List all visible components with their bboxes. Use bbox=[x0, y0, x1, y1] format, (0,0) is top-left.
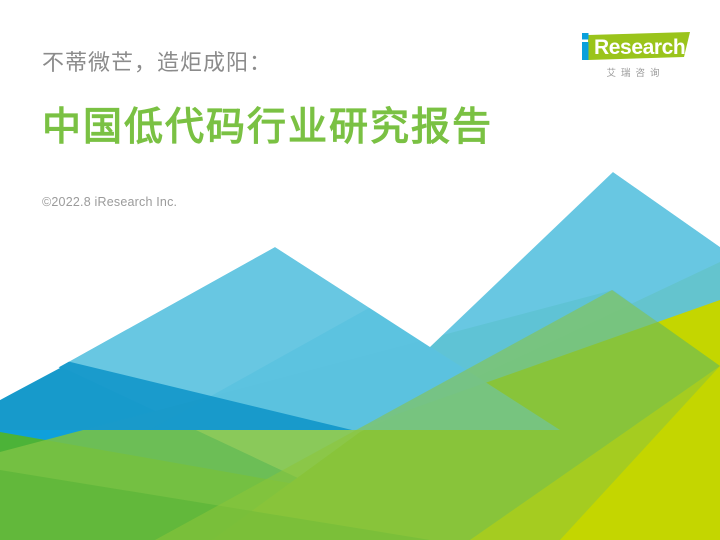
logo-chinese-name: 艾瑞咨询 bbox=[574, 67, 692, 81]
logo-wordmark: Research bbox=[594, 36, 685, 59]
logo-i-stem-icon bbox=[582, 42, 589, 60]
logo-graphic: Research bbox=[574, 30, 692, 64]
logo-i-dot-icon bbox=[582, 33, 589, 40]
cover-subtitle: 不蒂微芒，造炬成阳： bbox=[42, 48, 582, 78]
report-cover-page: 不蒂微芒，造炬成阳： 中国低代码行业研究报告 ©2022.8 iResearch… bbox=[0, 0, 720, 540]
logo-mark: Research bbox=[574, 30, 692, 64]
cover-text-block: 不蒂微芒，造炬成阳： 中国低代码行业研究报告 ©2022.8 iResearch… bbox=[42, 48, 582, 210]
iresearch-logo: Research 艾瑞咨询 bbox=[574, 30, 692, 81]
page-title: 中国低代码行业研究报告 bbox=[42, 104, 582, 152]
copyright-notice: ©2022.8 iResearch Inc. bbox=[42, 194, 582, 210]
